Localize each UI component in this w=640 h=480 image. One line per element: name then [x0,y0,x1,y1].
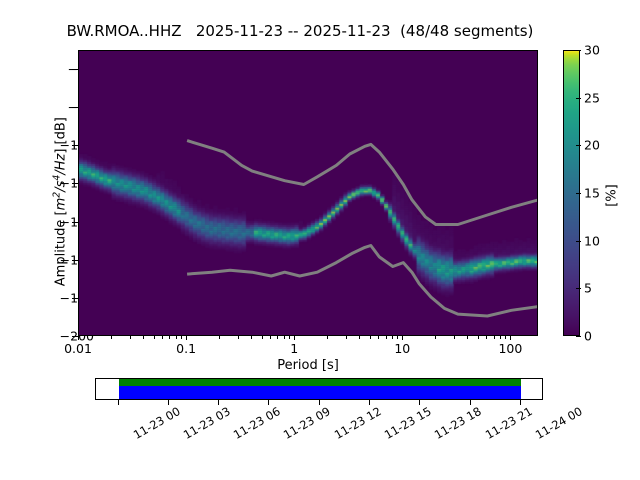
time-tick-mark [168,400,169,405]
x-tick-mark-minor [505,336,506,339]
x-tick-mark-minor [277,336,278,339]
x-tick-label: 1 [290,341,298,356]
x-tick-mark-minor [262,336,263,339]
x-tick-mark [186,336,187,340]
y-axis-unit-hz: /Hz [54,154,69,175]
ppsd-plot-area[interactable] [78,50,538,336]
colorbar-tick-label: 20 [584,138,600,153]
time-tick-mark [319,400,320,405]
x-tick-label: 0.1 [176,341,196,356]
x-tick-mark-minor [143,336,144,339]
x-tick-mark-minor [370,336,371,339]
x-tick-label: 10 [394,341,410,356]
colorbar-tick-mark [576,336,581,337]
colorbar-label: [%] [605,156,620,236]
x-tick-mark-minor [392,336,393,339]
high-noise-model-curve [187,141,537,225]
time-tick-mark [218,400,219,405]
x-tick-mark-minor [359,336,360,339]
colorbar-tick-mark [576,50,581,51]
data-coverage-bar[interactable] [95,378,543,400]
x-tick-mark-minor [130,336,131,339]
x-tick-mark-minor [467,336,468,339]
colorbar-tick-label: 30 [584,43,600,58]
x-tick-mark-minor [289,336,290,339]
colorbar-tick-label: 25 [584,90,600,105]
time-tick-label: 11-23 18 [432,404,484,442]
colorbar-tick-label: 0 [584,329,592,344]
x-tick-mark-minor [251,336,252,339]
x-axis-label: Period [s] [78,358,538,373]
time-tick-label: 11-23 06 [231,404,283,442]
x-tick-mark-minor [270,336,271,339]
noise-model-overlay [79,51,537,335]
x-tick-mark-minor [284,336,285,339]
x-tick-mark-minor [435,336,436,339]
colorbar-tick-mark [576,193,581,194]
colorbar-tick-mark [576,241,581,242]
colorbar-tick-label: 10 [584,233,600,248]
y-axis-unit-m: m [54,198,69,211]
y-axis-unit-exp1: 2 [51,192,62,198]
colorbar-tick-label: 5 [584,281,592,296]
x-tick-mark-minor [176,336,177,339]
x-tick-mark-minor [238,336,239,339]
time-tick-mark [369,400,370,405]
x-tick-mark-minor [346,336,347,339]
time-tick-mark [268,400,269,405]
x-tick-mark-minor [111,336,112,339]
time-tick-label: 11-23 00 [131,404,183,442]
plot-clip [79,51,537,335]
x-tick-mark-minor [378,336,379,339]
y-axis-label: Amplitude [m2/s4/Hz] [dB] [51,52,68,352]
time-tick-mark [419,400,420,405]
time-tick-label: 11-23 12 [332,404,384,442]
time-tick-mark [118,400,119,405]
x-tick-mark-minor [454,336,455,339]
ppsd-figure: BW.RMOA..HHZ 2025-11-23 -- 2025-11-23 (4… [0,0,640,480]
x-tick-mark [78,336,79,340]
x-tick-mark [294,336,295,340]
x-tick-mark [402,336,403,340]
page-title: BW.RMOA..HHZ 2025-11-23 -- 2025-11-23 (4… [0,22,600,40]
x-tick-mark-minor [169,336,170,339]
coverage-fill [119,379,521,399]
colorbar-tick-mark [576,145,581,146]
colorbar-tick-label: 15 [584,186,600,201]
colorbar-tick-mark [576,288,581,289]
time-tick-label: 11-23 15 [382,404,434,442]
x-tick-mark-minor [162,336,163,339]
x-tick-mark-minor [486,336,487,339]
x-tick-mark-minor [397,336,398,339]
time-tick-label: 11-23 21 [482,404,534,442]
x-tick-mark-minor [500,336,501,339]
x-tick-mark-minor [219,336,220,339]
x-tick-mark-minor [327,336,328,339]
x-tick-mark-minor [494,336,495,339]
time-tick-mark [470,400,471,405]
x-tick-mark [510,336,511,340]
x-tick-label: 100 [498,341,522,356]
coverage-blue-band [119,386,521,399]
time-tick-mark [520,400,521,405]
x-tick-mark-minor [386,336,387,339]
x-tick-mark-minor [154,336,155,339]
low-noise-model-curve [187,246,537,317]
time-tick-label: 11-23 09 [281,404,333,442]
x-tick-mark-minor [478,336,479,339]
time-tick-label: 11-23 03 [181,404,233,442]
coverage-green-band [119,379,521,386]
x-tick-label: 0.01 [64,341,92,356]
colorbar-tick-mark [576,98,581,99]
x-tick-mark-minor [181,336,182,339]
time-tick-label: 11-24 00 [533,404,585,442]
